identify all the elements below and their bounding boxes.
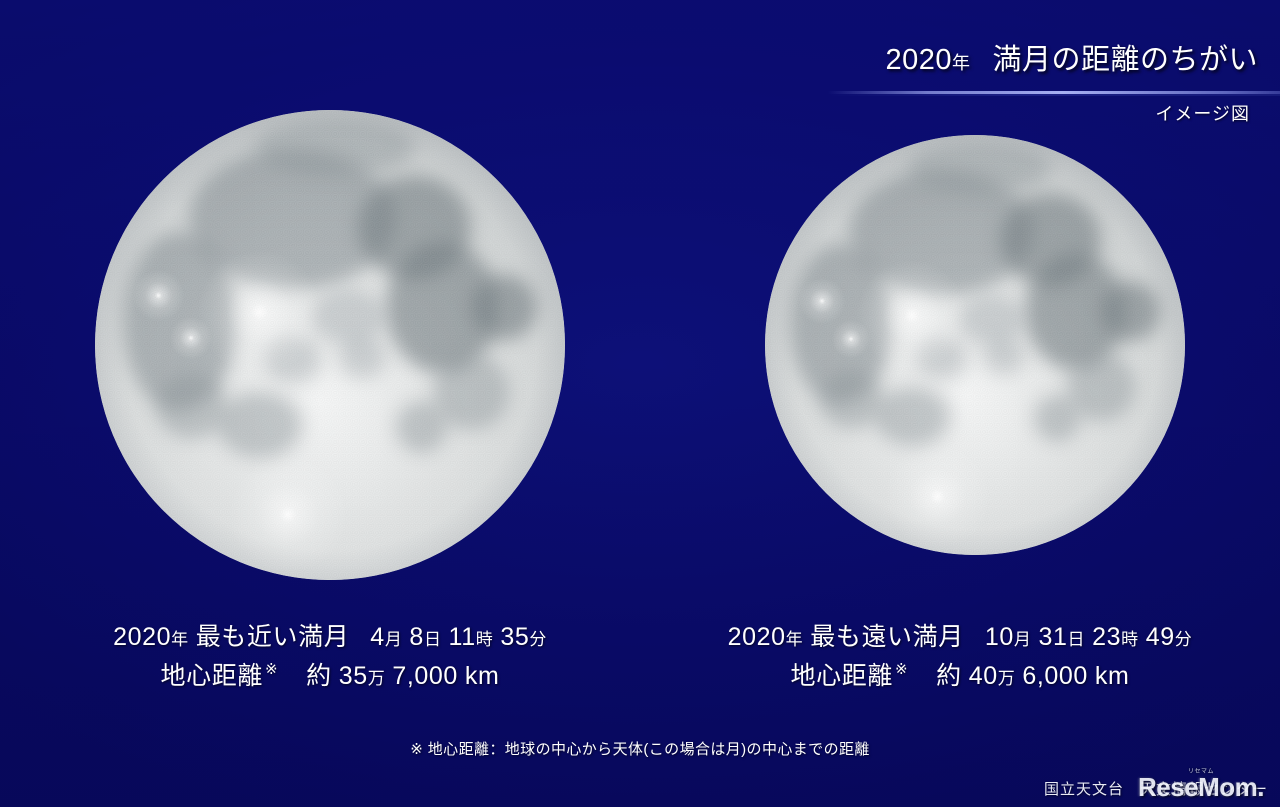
distance-label: 地心距離 [791,662,893,690]
caption-nearest-line2: 地心距離※約35万7,000km [0,657,660,696]
distance-approx: 約 [936,662,962,690]
caption-day-unit: 日 [1068,630,1086,649]
infographic-canvas: 2020年満月の距離のちがい イメージ図 [0,0,1280,807]
caption-hour: 11 [449,623,476,651]
caption-minute-unit: 分 [529,630,547,649]
caption-hour-unit: 時 [1121,630,1139,649]
moon-limb-shading [765,135,1185,555]
caption-minute-unit: 分 [1175,630,1193,649]
moon-limb-shading [95,110,565,580]
caption-year: 2020 [728,623,786,651]
caption-year-unit: 年 [786,630,804,649]
subtitle-image-note: イメージ図 [1155,100,1250,126]
caption-day-unit: 日 [424,630,442,649]
distance-approx: 約 [306,662,332,690]
distance-label: 地心距離 [161,662,263,690]
title-divider-rule [828,91,1280,94]
caption-month: 10 [985,623,1014,651]
footnote-text: ※ 地心距離：地球の中心から天体(この場合は月)の中心までの距離 [0,738,1280,759]
moon-image-farthest [765,135,1185,555]
credit-text: 国立天文台 天文情報センター [1044,778,1268,799]
caption-nearest: 2020年最も近い満月4月8日11時35分 地心距離※約35万7,000km [0,618,660,696]
title-year-unit: 年 [952,53,983,73]
distance-remainder: 7,000 [392,662,458,690]
distance-man-value: 35 [339,662,368,690]
distance-km-unit: km [465,662,500,690]
moon-image-nearest [95,110,565,580]
distance-remainder: 6,000 [1022,662,1088,690]
caption-minute: 35 [500,623,529,651]
caption-farthest: 2020年最も遠い満月10月31日23時49分 地心距離※約40万6,000km [640,618,1280,696]
caption-hour: 23 [1092,623,1121,651]
caption-hour-unit: 時 [476,630,494,649]
caption-farthest-line2: 地心距離※約40万6,000km [640,657,1280,696]
caption-month: 4 [370,623,385,651]
caption-nearest-line1: 2020年最も近い満月4月8日11時35分 [0,618,660,657]
title-block: 2020年満月の距離のちがい [885,46,1258,75]
caption-label: 最も遠い満月 [810,623,964,651]
caption-day: 8 [409,623,424,651]
distance-man-unit: 万 [998,669,1016,688]
page-title: 2020年満月の距離のちがい [885,46,1258,75]
caption-year: 2020 [113,623,171,651]
distance-man-value: 40 [969,662,998,690]
caption-month-unit: 月 [1014,630,1032,649]
caption-day: 31 [1038,623,1067,651]
distance-man-unit: 万 [368,669,386,688]
caption-minute: 49 [1146,623,1175,651]
caption-year-unit: 年 [171,630,189,649]
title-year: 2020 [885,44,952,76]
distance-km-unit: km [1095,662,1130,690]
caption-farthest-line1: 2020年最も遠い満月10月31日23時49分 [640,618,1280,657]
caption-label: 最も近い満月 [196,623,350,651]
caption-month-unit: 月 [385,630,403,649]
title-main: 満月の距離のちがい [992,44,1258,76]
reference-mark: ※ [263,661,278,678]
reference-mark: ※ [893,661,908,678]
